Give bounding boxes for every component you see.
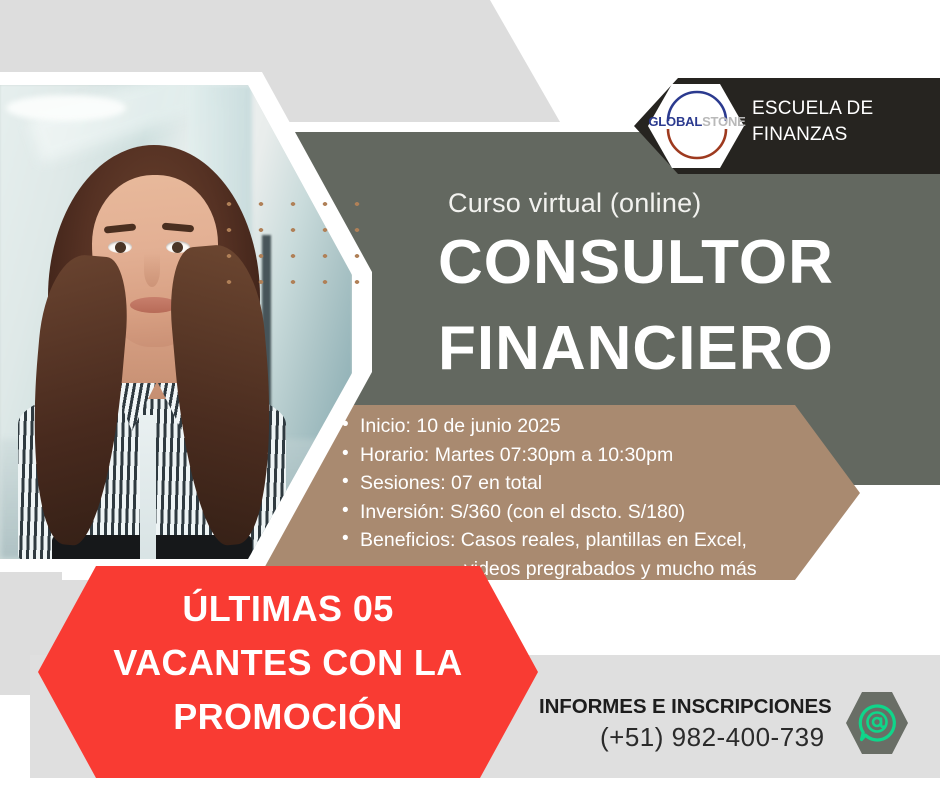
logo-word-stone: STONE: [702, 114, 746, 129]
photo-pupil-right: [172, 242, 183, 253]
photo-nose: [144, 253, 160, 287]
promo-text: ÚLTIMAS 05 VACANTES CON LA PROMOCIÓN: [38, 582, 538, 744]
contact-heading: INFORMES E INSCRIPCIONES: [539, 695, 832, 719]
dot-grid-decoration: [210, 188, 378, 292]
presenter-photo: [0, 72, 372, 572]
logo-word-global: GLOBAL: [648, 114, 702, 129]
photo-ceiling-light: [6, 95, 126, 121]
flyer-canvas: GLOBALSTONE ESCUELA DE FINANZAS Curso vi…: [0, 0, 940, 788]
list-item: Inversión: S/360 (con el dscto. S/180): [338, 498, 848, 527]
list-item: Horario: Martes 07:30pm a 10:30pm: [338, 441, 848, 470]
contact-phone-number[interactable]: (+51) 982-400-739: [600, 722, 825, 753]
promo-line-3: PROMOCIÓN: [38, 690, 538, 744]
list-item: Beneficios: Casos reales, plantillas en …: [338, 526, 848, 555]
logo-wordmark: GLOBALSTONE: [648, 114, 746, 129]
list-item: Sesiones: 07 en total: [338, 469, 848, 498]
brand-name: ESCUELA DE FINANZAS: [752, 96, 932, 148]
whatsapp-at-icon[interactable]: [856, 702, 898, 744]
list-item: Inicio: 10 de junio 2025: [338, 412, 848, 441]
photo-shirt-placket: [140, 415, 156, 559]
course-details-list: Inicio: 10 de junio 2025 Horario: Martes…: [338, 412, 848, 583]
course-title-line-1: CONSULTOR: [438, 232, 834, 294]
course-title-line-2: FINANCIERO: [438, 318, 834, 380]
promo-line-2: VACANTES CON LA: [38, 636, 538, 690]
photo-pupil-left: [115, 242, 126, 253]
promo-line-1: ÚLTIMAS 05: [38, 582, 538, 636]
course-kicker: Curso virtual (online): [448, 188, 702, 219]
brand-line-2: FINANZAS: [752, 122, 932, 148]
brand-line-1: ESCUELA DE: [752, 96, 932, 122]
